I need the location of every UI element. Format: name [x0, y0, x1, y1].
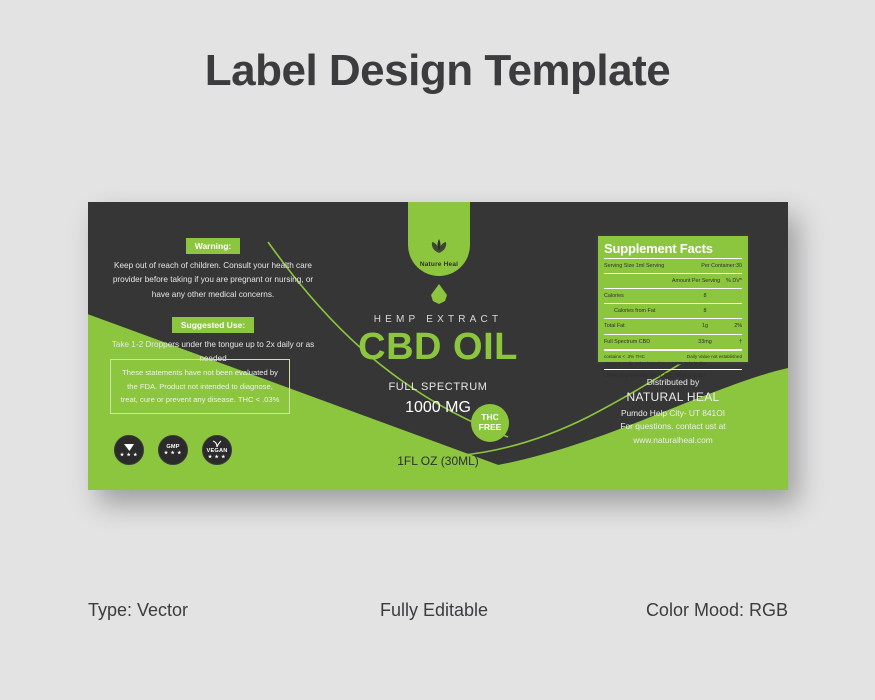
sf-thc-note: contains < .3% THC: [604, 353, 687, 360]
sf-row-dv: [722, 307, 742, 315]
sf-divider: [604, 288, 742, 289]
sf-serving-row: Serving Size 1ml Serving Per Container:3…: [604, 261, 742, 271]
sf-row-amount: 8: [688, 292, 722, 300]
footer-color-mood: Color Mood: RGB: [646, 600, 788, 621]
distributor-contact: For questions. contact ust at: [588, 420, 758, 433]
sf-dv-header: % DV*: [726, 277, 742, 285]
hero-spectrum: FULL SPECTRUM: [358, 381, 518, 393]
sf-row-name: Calories from Fat: [604, 307, 688, 315]
footer-meta: Type: Vector Fully Editable Color Mood: …: [88, 600, 788, 621]
sf-column-headers: Amount Per Serving % DV*: [604, 276, 742, 286]
leaf-icon: [428, 238, 450, 259]
sf-dv-note: Daily Value not established: [687, 353, 742, 360]
footer-editable: Fully Editable: [380, 600, 488, 621]
left-info-column: Warning: Keep out of reach of children. …: [108, 236, 318, 367]
sf-row-amount: 33mg: [688, 338, 722, 346]
supplement-facts-panel: Supplement Facts Serving Size 1ml Servin…: [596, 234, 750, 364]
sf-row: Calories from Fat 8: [604, 306, 742, 316]
distributor-name: NATURAL HEAL: [588, 390, 758, 404]
sf-row-dv: †: [722, 338, 742, 346]
sf-divider: [604, 318, 742, 319]
sf-divider: [604, 334, 742, 335]
vegan-badge: VEGAN ★ ★ ★: [202, 435, 232, 465]
brand-tab: Nature Heal: [408, 202, 470, 276]
sf-row-amount: 1g: [688, 322, 722, 330]
sf-row-name: Full Spectrum CBD: [604, 338, 688, 346]
sf-row-name: Calories: [604, 292, 688, 300]
hero-product-name: CBD OIL: [358, 327, 518, 369]
distributor-block: Distributed by NATURAL HEAL Pumdo Help C…: [588, 377, 758, 447]
thc-free-badge: THC FREE: [471, 404, 509, 442]
quality-seal-stars: ★ ★ ★: [120, 452, 138, 458]
fda-disclaimer-box: These statements have not been evaluated…: [110, 359, 290, 414]
sf-calorie-note: *Percent Daily Value based on a 2,000 ca…: [604, 360, 742, 367]
sf-row: Total Fat 1g 2%: [604, 321, 742, 331]
page-title: Label Design Template: [0, 46, 875, 96]
thc-badge-line2: FREE: [479, 423, 502, 433]
sf-row-dv: 2%: [722, 322, 742, 330]
sf-divider: [604, 369, 742, 370]
sf-serving-size: Serving Size 1ml Serving: [604, 262, 701, 270]
volume-text: 1FL OZ (30ML): [318, 454, 558, 468]
sf-divider: [604, 303, 742, 304]
sf-row: Full Spectrum CBD 33mg †: [604, 337, 742, 347]
brand-name: Nature Heal: [420, 261, 458, 268]
sf-row: Calories 8: [604, 291, 742, 301]
suggested-use-tag: Suggested Use:: [172, 317, 254, 333]
sf-divider: [604, 349, 742, 351]
label-artboard: Nature Heal Warning: Keep out of reach o…: [88, 202, 788, 490]
droplet-icon: [431, 284, 447, 304]
sf-divider: [604, 273, 742, 274]
sf-footnotes: contains < .3% THC Daily Value not estab…: [604, 353, 742, 368]
sf-per-container: Per Container:30: [701, 262, 742, 270]
hero-block: HEMP EXTRACT CBD OIL FULL SPECTRUM 1000 …: [358, 314, 518, 417]
certification-badges: ★ ★ ★ GMP ★ ★ ★ VEGAN ★ ★ ★: [114, 435, 232, 465]
supplement-facts-title: Supplement Facts: [604, 241, 742, 256]
sf-amount-header: Amount Per Serving: [672, 277, 720, 285]
footer-type: Type: Vector: [88, 600, 188, 621]
gmp-badge: GMP ★ ★ ★: [158, 435, 188, 465]
vegan-badge-stars: ★ ★ ★: [208, 454, 226, 460]
distributor-website: www.naturalheal.com: [588, 434, 758, 447]
warning-text: Keep out of reach of children. Consult y…: [108, 259, 318, 302]
distributed-by-label: Distributed by: [588, 377, 758, 387]
warning-tag: Warning:: [186, 238, 241, 254]
sf-row-name: Total Fat: [604, 322, 688, 330]
sf-divider: [604, 258, 742, 259]
quality-seal-badge: ★ ★ ★: [114, 435, 144, 465]
distributor-address: Pumdo Help City- UT 841OI: [588, 407, 758, 420]
sf-row-dv: [722, 292, 742, 300]
sf-row-amount: 8: [688, 307, 722, 315]
hero-eyebrow: HEMP EXTRACT: [358, 314, 518, 325]
page-root: Label Design Template Nature Heal Wa: [0, 0, 875, 700]
gmp-badge-stars: ★ ★ ★: [164, 450, 182, 456]
